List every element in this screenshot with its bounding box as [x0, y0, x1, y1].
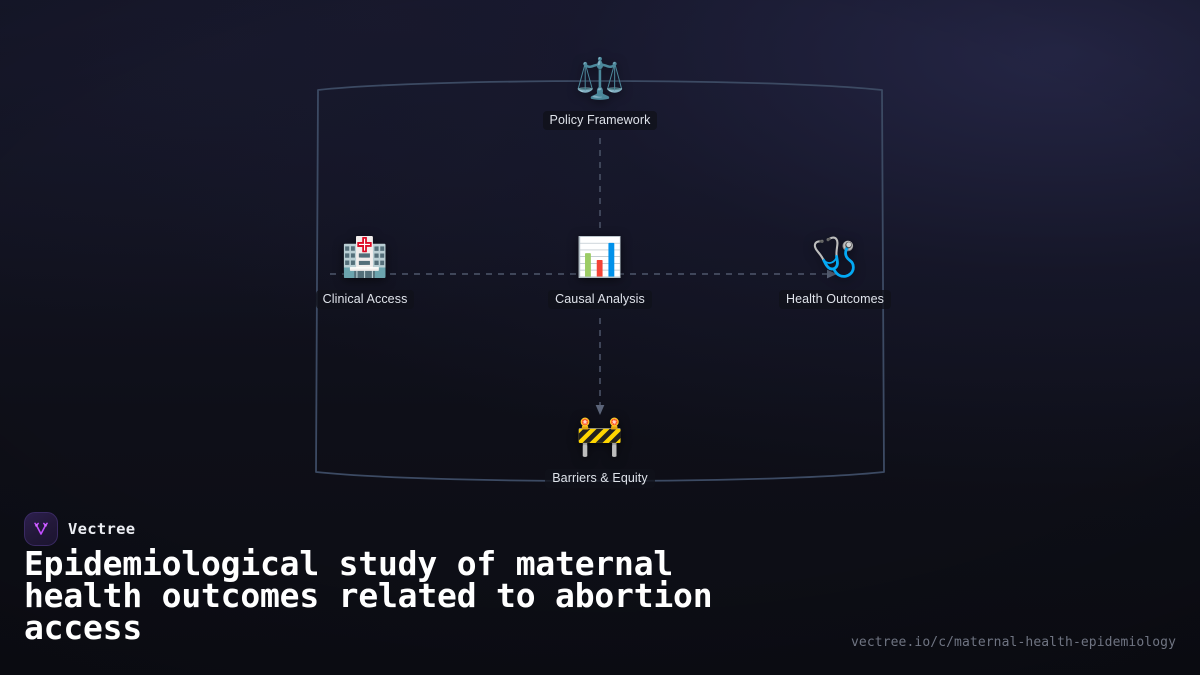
node-label: Clinical Access	[316, 290, 415, 309]
node-clinical-access[interactable]: 🏥 Clinical Access	[270, 235, 460, 309]
bar-chart-icon: 📊	[505, 235, 695, 285]
node-label: Barriers & Equity	[545, 469, 654, 488]
node-causal-analysis[interactable]: 📊 Causal Analysis	[505, 235, 695, 309]
node-health-outcomes[interactable]: 🩺 Health Outcomes	[740, 235, 930, 309]
vectree-logo-icon	[24, 512, 58, 546]
node-barriers-equity[interactable]: 🚧 Barriers & Equity	[505, 414, 695, 488]
concept-diagram: ⚖️ Policy Framework 🏥 Clinical Access 📊 …	[0, 0, 1200, 500]
construction-barrier-icon: 🚧	[505, 414, 695, 464]
brand[interactable]: Vectree	[24, 512, 135, 546]
node-label: Causal Analysis	[548, 290, 652, 309]
hospital-icon: 🏥	[270, 235, 460, 285]
brand-name: Vectree	[68, 520, 135, 538]
share-url: vectree.io/c/maternal-health-epidemiolog…	[851, 635, 1176, 650]
stethoscope-icon: 🩺	[740, 235, 930, 285]
node-label: Policy Framework	[543, 111, 658, 130]
headline: Epidemiological study of maternal health…	[24, 548, 824, 644]
node-label: Health Outcomes	[779, 290, 891, 309]
balance-scale-icon: ⚖️	[505, 56, 695, 106]
footer: Vectree Epidemiological study of materna…	[0, 500, 1200, 675]
node-policy-framework[interactable]: ⚖️ Policy Framework	[505, 56, 695, 130]
